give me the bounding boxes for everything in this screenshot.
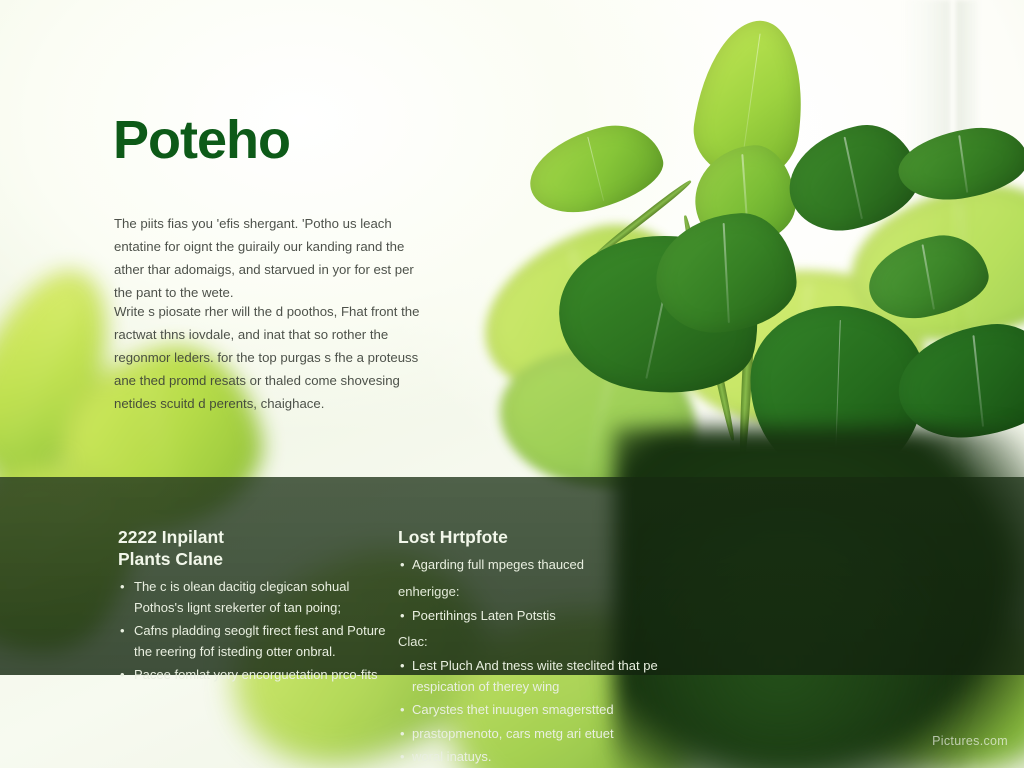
poster-content: Poteho The piits fias you 'efis shergant… [0, 0, 1024, 768]
left-column-heading-line2: Plants Clane [118, 549, 223, 569]
right-column-subtext-1: enherigge: [398, 582, 666, 602]
right-column-bullet-list-top: Agarding full mpeges thauced [398, 555, 666, 576]
list-item: woral inatuys. [398, 747, 666, 768]
list-item: Cafns pladding seoglt firect fiest and P… [118, 621, 386, 662]
page-title: Poteho [113, 113, 290, 167]
right-column-heading: Lost Hrtpfote [398, 526, 666, 548]
list-item: prastopmenoto, cars metg ari etuet [398, 724, 666, 745]
list-item: Poertihings Laten Potstis [398, 606, 666, 627]
right-column: Lost Hrtpfote Agarding full mpeges thauc… [398, 526, 666, 768]
list-item: Lest Pluch And tness wiite steclited tha… [398, 656, 666, 697]
poster-canvas: Poteho The piits fias you 'efis shergant… [0, 0, 1024, 768]
left-column-bullet-list: The c is olean dacitig clegican sohual P… [118, 577, 386, 686]
intro-paragraph-2: Write s piosate rher will the d poothos,… [114, 300, 426, 415]
intro-paragraph-1: The piits fias you 'efis shergant. 'Poth… [114, 212, 426, 304]
list-item: Agarding full mpeges thauced [398, 555, 666, 576]
right-column-subtext-2: Clac: [398, 632, 666, 652]
list-item: The c is olean dacitig clegican sohual P… [118, 577, 386, 618]
watermark-text: Pictures.com [932, 734, 1008, 748]
right-column-bullet-list-mid: Poertihings Laten Potstis [398, 606, 666, 627]
left-column: 2222 Inpilant Plants Clane The c is olea… [118, 526, 386, 689]
list-item: Carystes thet inuugen smagerstted [398, 700, 666, 721]
right-column-bullet-list-bottom: Lest Pluch And tness wiite steclited tha… [398, 656, 666, 768]
list-item: Pacee fomlat yory encorguetation prco-fi… [118, 665, 386, 686]
left-column-heading-line1: 2222 Inpilant [118, 527, 224, 547]
left-column-heading: 2222 Inpilant Plants Clane [118, 526, 386, 570]
